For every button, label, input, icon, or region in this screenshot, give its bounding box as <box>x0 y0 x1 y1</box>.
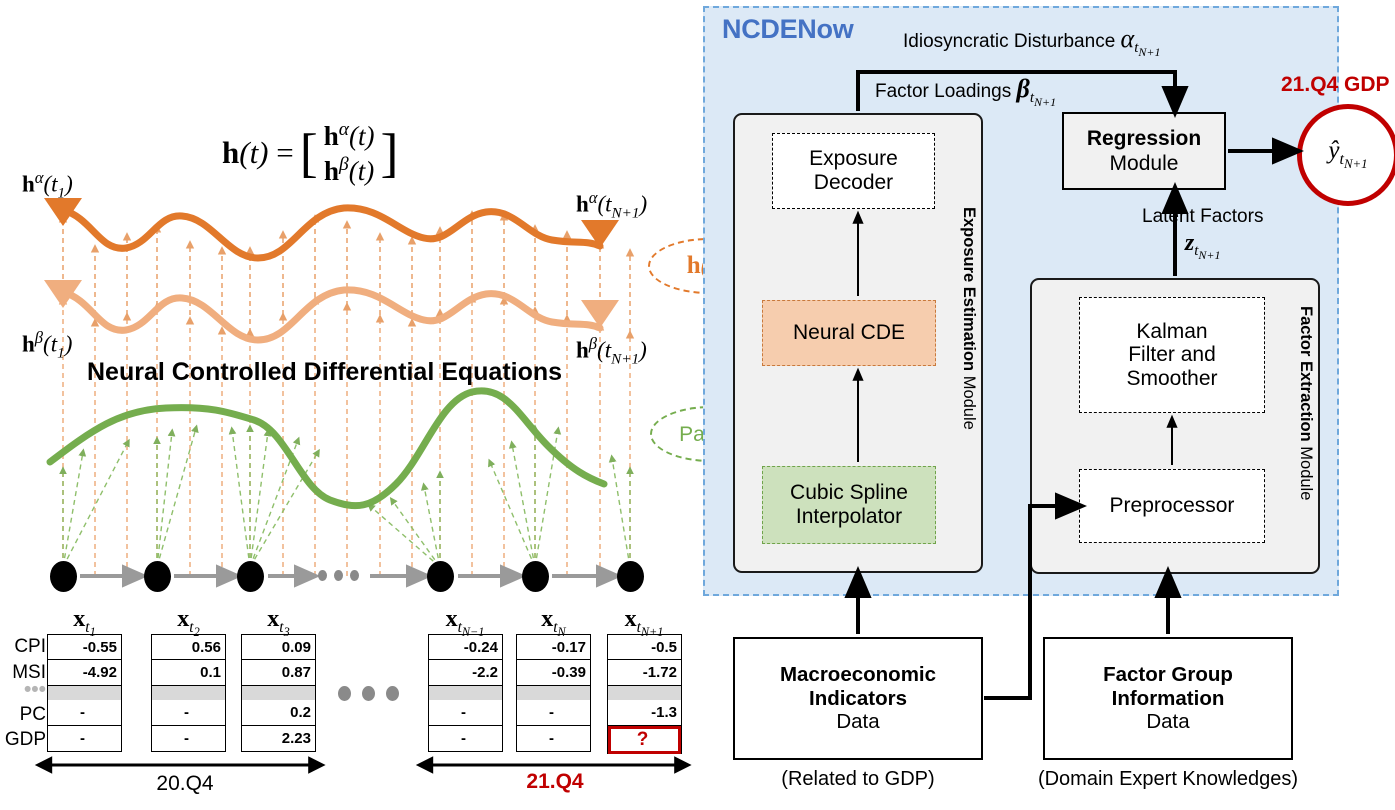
table-cell: -0.55 <box>48 634 121 660</box>
factor-group-information-caption: (Domain Expert Knowledges) <box>1018 768 1318 791</box>
sequence-node <box>427 561 454 592</box>
macro-subtitle: Data <box>780 710 936 734</box>
table-row-labels: CPI MSI ••• PC GDP <box>4 634 46 752</box>
gdp-output-note: 21.Q4 GDP <box>1281 73 1390 97</box>
table-cell: - <box>152 726 225 752</box>
ncde-caption: Neural Controlled Differential Equations <box>87 358 562 387</box>
table-cell: -1.3 <box>608 700 681 726</box>
idiosyncratic-disturbance-label: Idiosyncratic Disturbance αtN+1 <box>903 24 1160 60</box>
factor-loadings-text: Factor Loadings <box>875 81 1011 102</box>
table-column-tn-1: -0.24 -2.2 - - <box>428 634 503 752</box>
sequence-node <box>50 561 77 592</box>
factor-title-1: Factor Group <box>1103 663 1233 687</box>
table-cell: -0.5 <box>608 634 681 660</box>
h-alpha-start-label: hα(t1) <box>22 168 73 202</box>
sequence-node <box>144 561 171 592</box>
table-cell: - <box>429 700 502 726</box>
idiosyncratic-text: Idiosyncratic Disturbance <box>903 31 1115 52</box>
hidden-state-formula: h(t) = [ hα(t) hβ(t) ] <box>222 118 398 188</box>
row-label-ellipsis: ••• <box>4 686 46 700</box>
node-ellipsis <box>318 570 359 581</box>
factor-subtitle: Data <box>1103 710 1233 734</box>
h-beta-curve <box>63 290 600 340</box>
factor-group-information-data: Factor Group Information Data <box>1043 637 1293 760</box>
table-column-t3: 0.09 0.87 0.2 2.23 <box>241 634 316 752</box>
module-label-rest: Module <box>960 371 978 430</box>
sequence-node <box>522 561 549 592</box>
regression-module-title: Regression <box>1087 126 1201 151</box>
row-label-gdp: GDP <box>4 726 46 752</box>
table-column-tn: -0.17 -0.39 - - <box>516 634 591 752</box>
latent-factors-label: Latent Factors ztN+1 <box>1142 206 1263 263</box>
table-cell: - <box>48 726 121 752</box>
table-cell: -0.24 <box>429 634 502 660</box>
table-column-t1: -0.55 -4.92 - - <box>47 634 122 752</box>
preprocessor: Preprocessor <box>1079 469 1265 543</box>
h-alpha-end-label: hα(tN+1) <box>576 188 647 222</box>
exposure-decoder: ExposureDecoder <box>772 133 935 209</box>
latent-factors-text: Latent Factors <box>1142 206 1263 228</box>
table-cell: - <box>429 726 502 752</box>
gdp-output-symbol: ŷtN+1 <box>1328 137 1367 172</box>
table-cell: - <box>152 700 225 726</box>
h-alpha-curve <box>63 208 600 258</box>
period-label-20q4: 20.Q4 <box>120 772 250 796</box>
table-cell: - <box>517 726 590 752</box>
macro-title-1: Macroeconomic <box>780 663 936 687</box>
table-cell: 0.56 <box>152 634 225 660</box>
neural-cde: Neural CDE <box>762 300 936 366</box>
regression-module-subtitle: Module <box>1087 151 1201 176</box>
sequence-node <box>237 561 264 592</box>
table-cell: -4.92 <box>48 660 121 686</box>
table-column-t2: 0.56 0.1 - - <box>151 634 226 752</box>
table-cell: 0.87 <box>242 660 315 686</box>
table-cell: 0.2 <box>242 700 315 726</box>
cubic-spline-interpolator: Cubic SplineInterpolator <box>762 466 936 544</box>
table-cell: -0.39 <box>517 660 590 686</box>
factor-extraction-module-label: Factor Extraction Module <box>1298 306 1315 500</box>
h-beta-start-label: hβ(t1) <box>22 328 72 362</box>
macroeconomic-indicators-caption: (Related to GDP) <box>733 768 983 791</box>
table-cell: -2.2 <box>429 660 502 686</box>
regression-module: Regression Module <box>1062 112 1226 190</box>
macroeconomic-indicators-data: Macroeconomic Indicators Data <box>733 637 983 760</box>
table-cell-blurred <box>242 686 315 700</box>
table-cell: 0.09 <box>242 634 315 660</box>
unknown-gdp-cell: ? <box>608 726 681 754</box>
macro-title-2: Indicators <box>780 687 936 711</box>
table-cell-blurred <box>48 686 121 700</box>
table-cell: - <box>517 700 590 726</box>
table-cell-blurred <box>608 686 681 700</box>
exposure-estimation-module-label: Exposure Estimation Module <box>961 207 978 430</box>
h-beta-end-label: hβ(tN+1) <box>576 334 647 368</box>
module-label-bold: Exposure Estimation <box>960 207 978 371</box>
table-column-ellipsis <box>338 686 399 701</box>
factor-title-2: Information <box>1103 687 1233 711</box>
table-cell-blurred <box>517 686 590 700</box>
kalman-filter-and-smoother: KalmanFilter andSmoother <box>1079 297 1265 413</box>
table-cell-blurred <box>152 686 225 700</box>
table-cell: - <box>48 700 121 726</box>
table-cell: -1.72 <box>608 660 681 686</box>
period-label-21q4: 21.Q4 <box>490 770 620 794</box>
table-cell: 0.1 <box>152 660 225 686</box>
row-label-cpi: CPI <box>4 634 46 660</box>
module-label-rest: Module <box>1297 442 1315 501</box>
module-label-bold: Factor Extraction <box>1297 306 1315 442</box>
table-cell: 2.23 <box>242 726 315 752</box>
table-cell: -0.17 <box>517 634 590 660</box>
factor-loadings-label: Factor Loadings βtN+1 <box>875 74 1056 110</box>
row-label-pc: PC <box>4 700 46 726</box>
sequence-node <box>617 561 644 592</box>
table-column-tn1: -0.5 -1.72 -1.3 ? <box>607 634 682 754</box>
table-cell-blurred <box>429 686 502 700</box>
gdp-output-node: ŷtN+1 <box>1297 104 1395 206</box>
path-x-curve <box>50 391 604 506</box>
ncdenow-title: NCDENow <box>722 14 853 45</box>
